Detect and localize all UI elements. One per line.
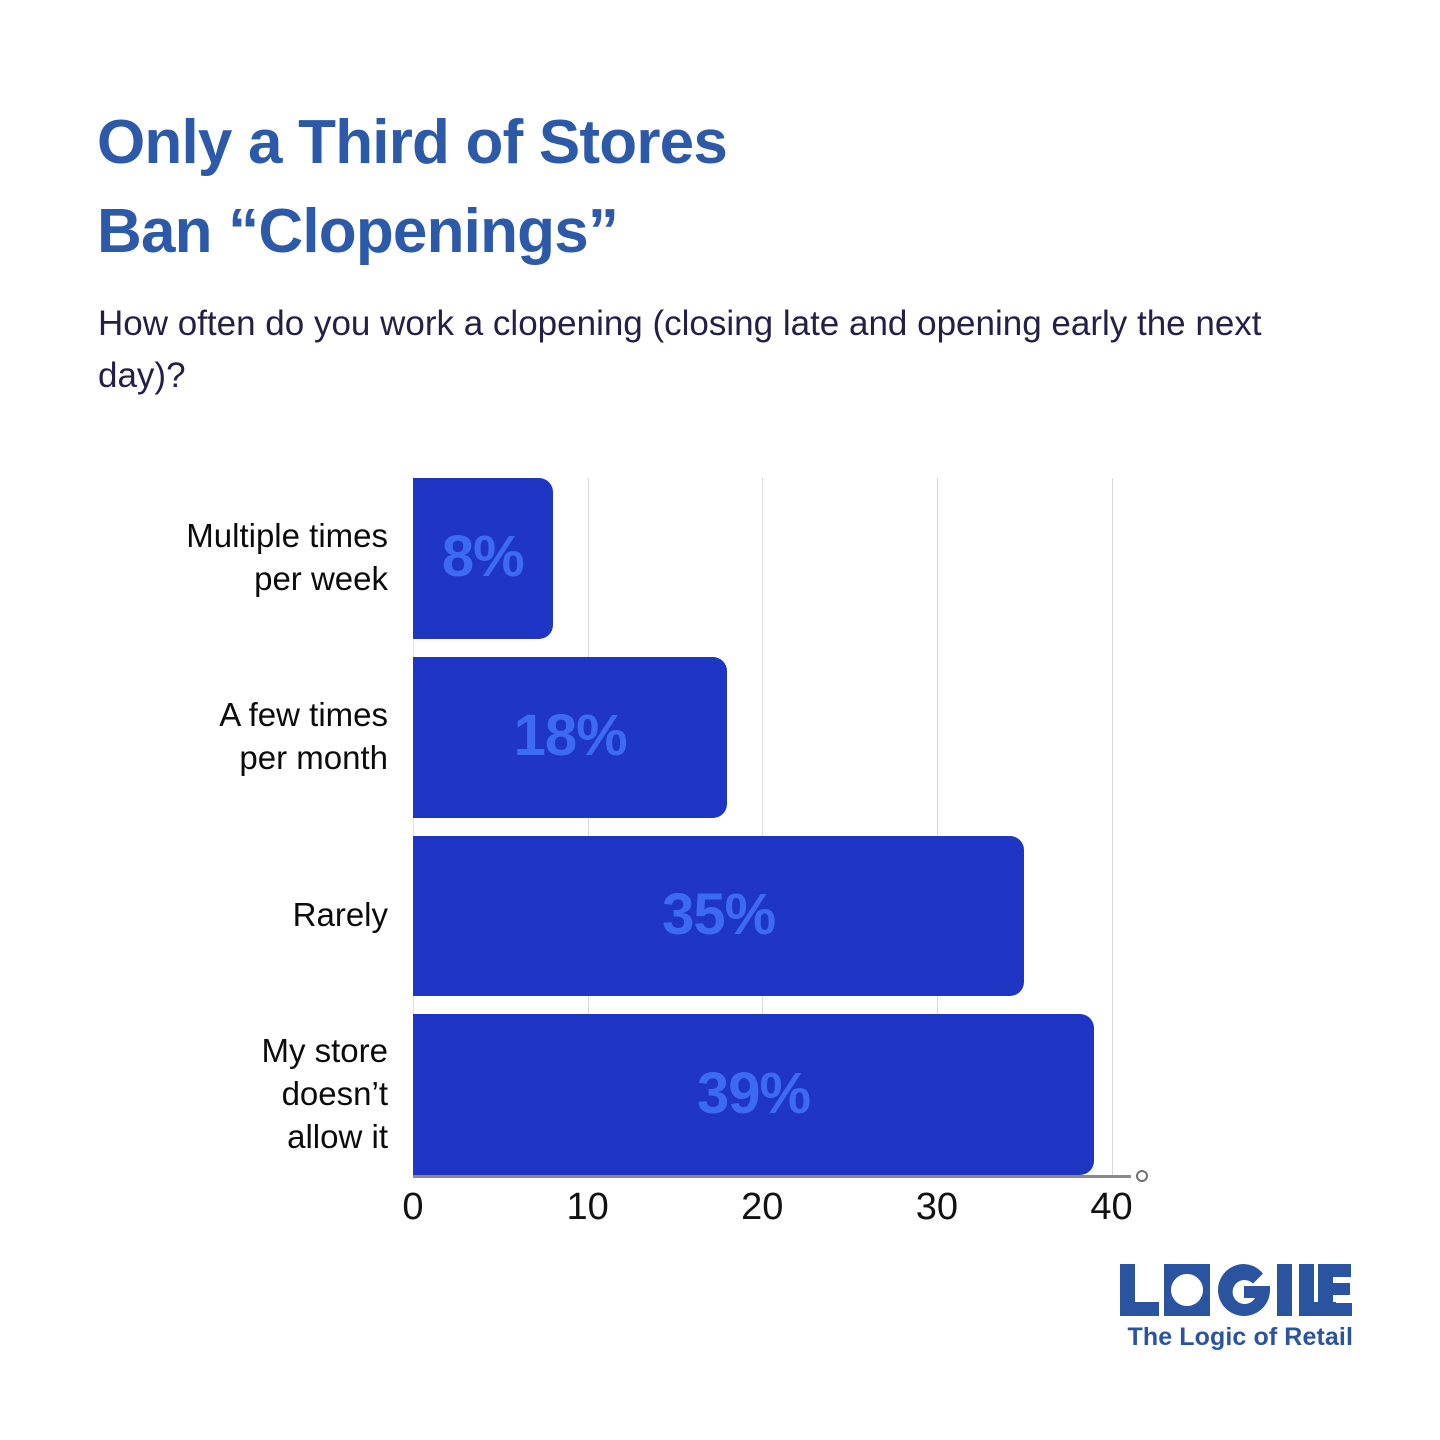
bar[interactable]: [413, 657, 727, 818]
category-label: Rarely: [98, 836, 388, 997]
x-tick-label-40: 40: [1067, 1186, 1157, 1229]
logile-tagline: The Logic of Retail: [1118, 1323, 1353, 1352]
x-axis-line: [413, 1175, 1131, 1178]
bar[interactable]: [413, 1014, 1094, 1175]
category-label: A few times per month: [98, 657, 388, 818]
bar-series: 8%18%35%39%: [413, 478, 1143, 1175]
bar[interactable]: [413, 836, 1024, 997]
x-tick-label-0: 0: [368, 1186, 458, 1229]
category-label: My store doesn’t allow it: [98, 1014, 388, 1175]
bar-row[interactable]: 8%: [413, 478, 1143, 639]
x-tick-label-30: 30: [892, 1186, 982, 1229]
x-tick-label-20: 20: [717, 1186, 807, 1229]
logile-wordmark-icon: [1118, 1262, 1353, 1318]
bar-row[interactable]: 18%: [413, 657, 1143, 818]
category-label: Multiple times per week: [98, 478, 388, 639]
bar[interactable]: [413, 478, 553, 639]
bar-row[interactable]: 39%: [413, 1014, 1143, 1175]
x-tick-label-10: 10: [543, 1186, 633, 1229]
bar-row[interactable]: 35%: [413, 836, 1143, 997]
logile-logo: The Logic of Retail: [1118, 1262, 1353, 1352]
bar-chart: 8%18%35%39% Multiple times per weekA few…: [0, 0, 1440, 1440]
axis-endpoint-handle[interactable]: [1136, 1170, 1148, 1182]
